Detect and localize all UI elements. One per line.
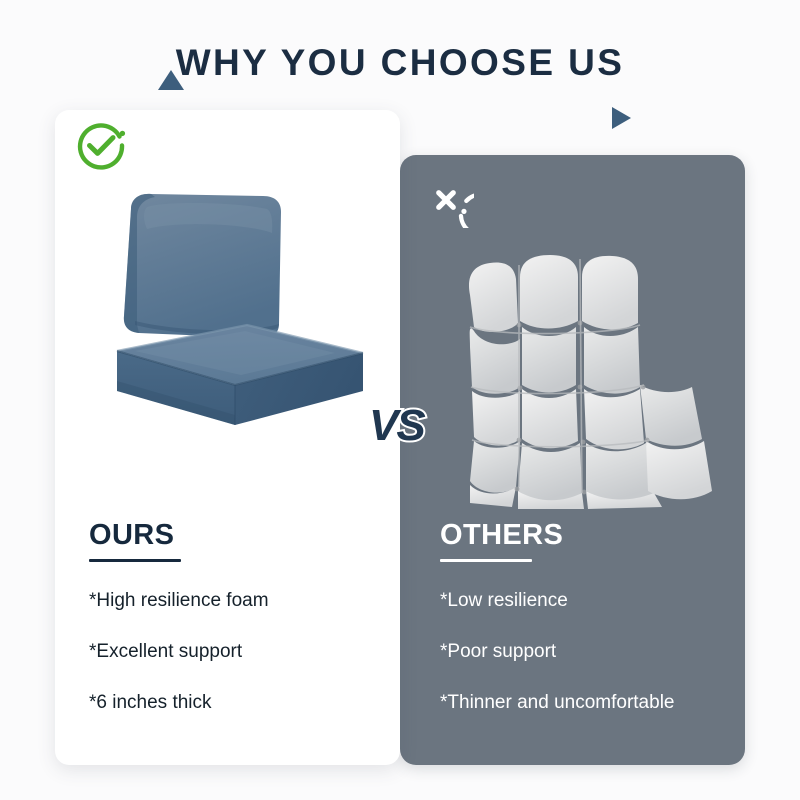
versus-badge: VS [369,403,424,449]
product-image-others [440,235,725,510]
comparison-infographic: WHY YOU CHOOSE US [0,0,800,800]
list-item: *Thinner and uncomfortable [440,691,740,714]
list-item: *Low resilience [440,589,740,612]
x-circle-icon [418,172,474,233]
header: WHY YOU CHOOSE US [0,34,800,94]
triangle-right-icon [612,107,631,129]
section-rule-others [440,559,532,562]
list-item: *6 inches thick [89,691,389,714]
section-label-ours: OURS [89,518,389,552]
product-image-ours [95,185,385,430]
section-ours: OURS *High resilience foam *Excellent su… [89,518,389,742]
section-others: OTHERS *Low resilience *Poor support *Th… [440,518,740,742]
check-circle-icon [72,116,130,179]
page-title: WHY YOU CHOOSE US [0,34,800,92]
feature-list-others: *Low resilience *Poor support *Thinner a… [440,589,740,714]
section-label-others: OTHERS [440,518,740,552]
list-item: *Poor support [440,640,740,663]
section-rule-ours [89,559,181,562]
list-item: *High resilience foam [89,589,389,612]
list-item: *Excellent support [89,640,389,663]
feature-list-ours: *High resilience foam *Excellent support… [89,589,389,714]
